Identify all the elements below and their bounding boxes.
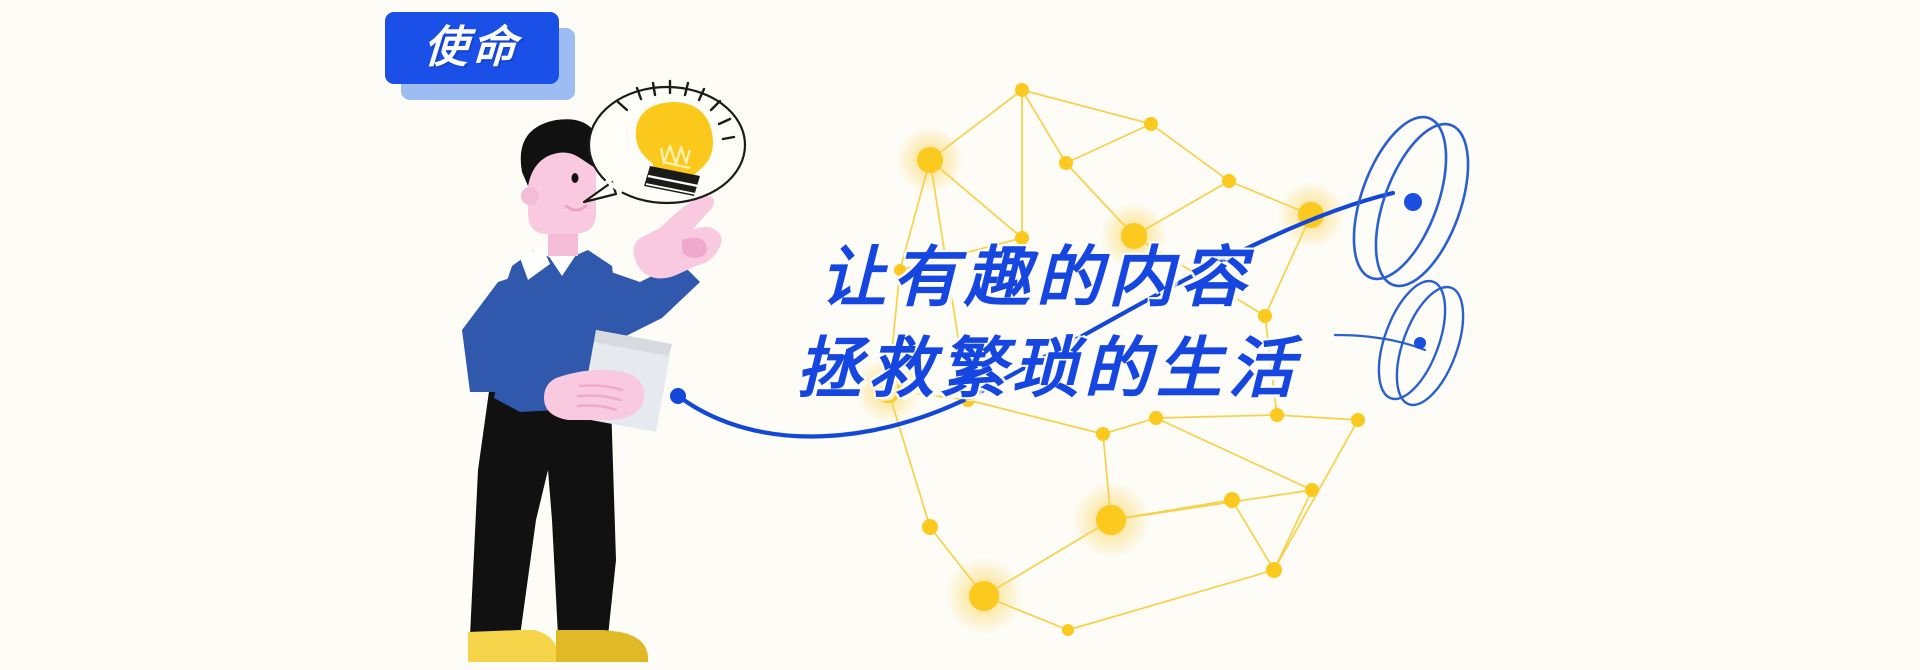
idea-speech-bubble (0, 0, 1920, 670)
mission-badge-label: 使命 (423, 26, 521, 70)
mission-banner: 让有趣的内容 拯救繁琐的生活 (0, 0, 1920, 670)
mission-badge-plate: 使命 (385, 12, 559, 84)
mission-badge: 使命 (385, 12, 575, 100)
